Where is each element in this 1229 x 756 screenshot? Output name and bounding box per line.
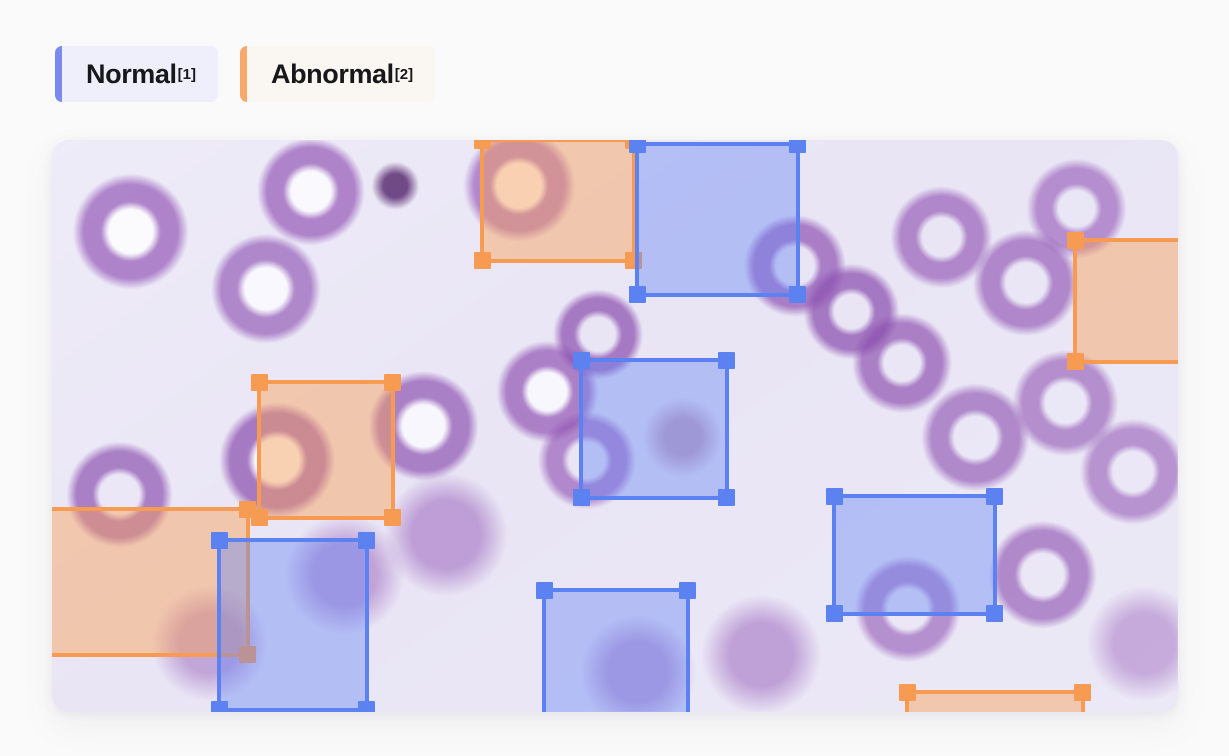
resize-handle-tl[interactable] [629, 140, 646, 153]
legend-chip-normal[interactable]: Normal[1] [55, 46, 218, 102]
resize-handle-tl[interactable] [474, 140, 491, 149]
resize-handle-br[interactable] [986, 605, 1003, 622]
legend-color-swatch-abnormal [240, 46, 247, 102]
resize-handle-tr[interactable] [384, 374, 401, 391]
resize-handle-br[interactable] [789, 286, 806, 303]
resize-handle-br[interactable] [384, 509, 401, 526]
bounding-box-normal[interactable] [635, 142, 800, 297]
resize-handle-br[interactable] [718, 489, 735, 506]
annotation-viewer-page: Normal[1] Abnormal[2] [0, 0, 1229, 756]
resize-handle-tr[interactable] [1074, 684, 1091, 701]
resize-handle-tl[interactable] [573, 352, 590, 369]
resize-handle-bl[interactable] [474, 252, 491, 269]
bounding-box-abnormal[interactable] [480, 140, 636, 263]
bounding-box-abnormal[interactable] [905, 690, 1085, 712]
resize-handle-bl[interactable] [629, 286, 646, 303]
resize-handle-tl[interactable] [211, 532, 228, 549]
bounding-box-normal[interactable] [217, 538, 369, 712]
bounding-box-normal[interactable] [542, 588, 690, 712]
legend-chip-abnormal[interactable]: Abnormal[2] [240, 46, 435, 102]
legend-chip-body-normal: Normal[1] [62, 46, 218, 102]
resize-handle-tr[interactable] [358, 532, 375, 549]
resize-handle-br[interactable] [358, 701, 375, 712]
bounding-box-normal[interactable] [579, 358, 729, 500]
resize-handle-tl[interactable] [826, 488, 843, 505]
image-panel[interactable] [52, 140, 1178, 712]
legend-chip-body-abnormal: Abnormal[2] [247, 46, 435, 102]
class-legend: Normal[1] Abnormal[2] [55, 46, 435, 102]
resize-handle-tr[interactable] [679, 582, 696, 599]
resize-handle-tr[interactable] [986, 488, 1003, 505]
resize-handle-bl[interactable] [211, 701, 228, 712]
resize-handle-tl[interactable] [536, 582, 553, 599]
resize-handle-tr[interactable] [718, 352, 735, 369]
resize-handle-tr[interactable] [789, 140, 806, 153]
legend-superscript-abnormal: [2] [395, 67, 413, 82]
bounding-box-abnormal[interactable] [257, 380, 395, 520]
legend-label-normal: Normal [86, 61, 177, 88]
legend-superscript-normal: [1] [178, 67, 196, 82]
resize-handle-tl[interactable] [251, 374, 268, 391]
resize-handle-bl[interactable] [1067, 353, 1084, 370]
resize-handle-tl[interactable] [899, 684, 916, 701]
resize-handle-bl[interactable] [826, 605, 843, 622]
legend-color-swatch-normal [55, 46, 62, 102]
bounding-box-abnormal[interactable] [1073, 238, 1178, 364]
resize-handle-bl[interactable] [573, 489, 590, 506]
legend-label-abnormal: Abnormal [271, 61, 394, 88]
bounding-box-normal[interactable] [832, 494, 997, 616]
resize-handle-tr[interactable] [239, 501, 256, 518]
resize-handle-tl[interactable] [1067, 232, 1084, 249]
